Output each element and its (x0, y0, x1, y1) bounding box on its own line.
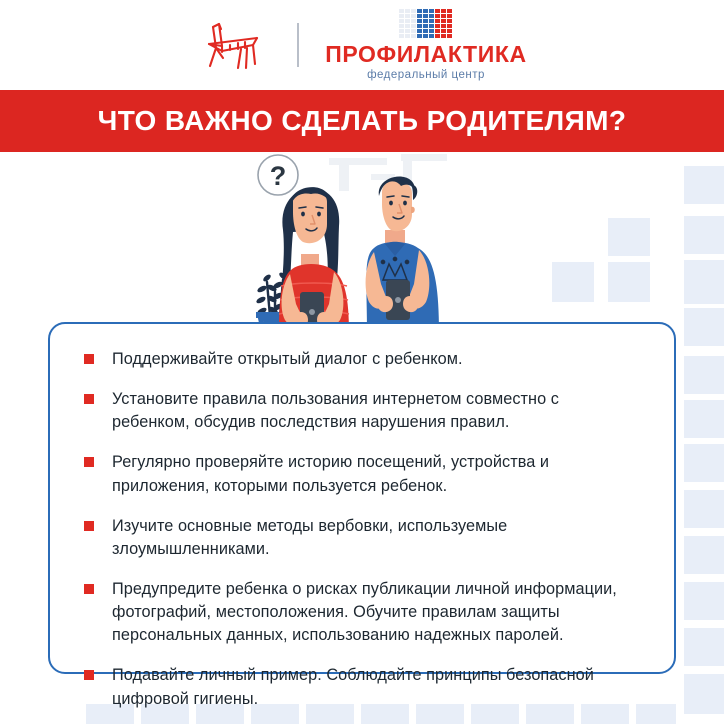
thought-bubble-icon: ? (258, 155, 302, 198)
bg-square (608, 262, 650, 302)
bg-square (684, 582, 724, 620)
list-item-text: Регулярно проверяйте историю посещений, … (112, 451, 640, 497)
list-item: Регулярно проверяйте историю посещений, … (84, 451, 640, 497)
list-item-text: Подавайте личный пример. Соблюдайте прин… (112, 664, 640, 710)
advice-list: Поддерживайте открытый диалог с ребенком… (84, 348, 640, 711)
bg-square (684, 216, 724, 254)
page-title: ЧТО ВАЖНО СДЕЛАТЬ РОДИТЕЛЯМ? (98, 105, 627, 137)
list-item: Поддерживайте открытый диалог с ребенком… (84, 348, 640, 371)
svg-text:?: ? (270, 161, 287, 191)
couple-with-smartphones-illustration: ? (243, 152, 455, 342)
bg-square (608, 218, 650, 256)
bg-square (684, 444, 724, 482)
bg-square (636, 704, 676, 724)
bullet-square-icon (84, 584, 94, 594)
bg-square (684, 166, 724, 204)
brand-name: ПРОФИЛАКТИКА (325, 43, 526, 66)
bg-square (552, 262, 594, 302)
bullet-square-icon (84, 354, 94, 364)
advice-card: Поддерживайте открытый диалог с ребенком… (48, 322, 676, 674)
pixel-grid-icon (399, 9, 452, 38)
woman-with-phone-figure (279, 187, 349, 333)
bg-square (684, 400, 724, 438)
list-item-text: Установите правила пользования интернето… (112, 388, 640, 434)
man-with-phone-figure (366, 177, 439, 333)
bg-square (684, 674, 724, 714)
brand-subtitle: федеральный центр (367, 70, 485, 82)
list-item: Установите правила пользования интернето… (84, 388, 640, 434)
bullet-square-icon (84, 457, 94, 467)
list-item-text: Изучите основные методы вербовки, исполь… (112, 515, 640, 561)
bg-square (684, 356, 724, 394)
bg-square (684, 260, 724, 304)
bullet-square-icon (84, 394, 94, 404)
logo-divider (297, 23, 299, 67)
bg-square (684, 490, 724, 528)
bullet-square-icon (84, 670, 94, 680)
bullet-square-icon (84, 521, 94, 531)
list-item-text: Поддерживайте открытый диалог с ребенком… (112, 348, 463, 371)
bg-square (684, 308, 724, 346)
list-item: Подавайте личный пример. Соблюдайте прин… (84, 664, 640, 710)
list-item-text: Предупредите ребенка о рисках публикации… (112, 578, 640, 647)
list-item: Изучите основные методы вербовки, исполь… (84, 515, 640, 561)
bg-square (684, 628, 724, 666)
infographic-poster: ПРОФИЛАКТИКА федеральный центр ЧТО ВАЖНО… (0, 0, 724, 724)
brand-lockup: ПРОФИЛАКТИКА федеральный центр (325, 9, 526, 82)
bg-square (684, 536, 724, 574)
headline-band: ЧТО ВАЖНО СДЕЛАТЬ РОДИТЕЛЯМ? (0, 90, 724, 152)
logo-bar: ПРОФИЛАКТИКА федеральный центр (0, 0, 724, 90)
chair-line-art-logo (197, 18, 271, 72)
list-item: Предупредите ребенка о рисках публикации… (84, 578, 640, 647)
